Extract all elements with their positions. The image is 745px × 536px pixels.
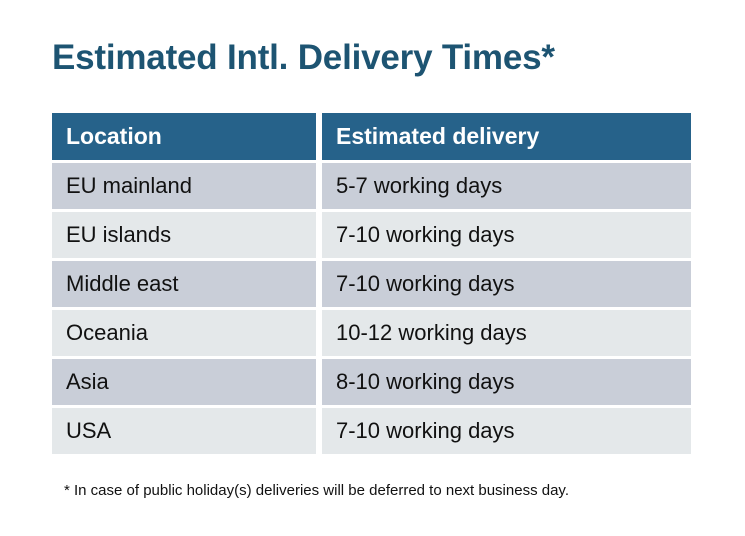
delivery-times-page: Estimated Intl. Delivery Times* Location…: [0, 0, 745, 536]
column-header-location: Location: [52, 113, 316, 160]
cell-estimated-delivery: 7-10 working days: [322, 212, 691, 258]
cell-estimated-delivery: 8-10 working days: [322, 359, 691, 405]
table-row: Asia 8-10 working days: [52, 359, 691, 405]
cell-location: Middle east: [52, 261, 316, 307]
cell-location: Asia: [52, 359, 316, 405]
page-title: Estimated Intl. Delivery Times*: [52, 37, 555, 79]
estimated-delivery-table: Location Estimated delivery EU mainland …: [52, 113, 691, 454]
cell-location: Oceania: [52, 310, 316, 356]
cell-estimated-delivery: 7-10 working days: [322, 261, 691, 307]
cell-location: EU mainland: [52, 163, 316, 209]
table-row: EU mainland 5-7 working days: [52, 163, 691, 209]
column-header-estimated-delivery: Estimated delivery: [322, 113, 691, 160]
table-row: USA 7-10 working days: [52, 408, 691, 454]
cell-estimated-delivery: 10-12 working days: [322, 310, 691, 356]
footnote-public-holiday: * In case of public holiday(s) deliverie…: [64, 481, 569, 501]
table-header-row: Location Estimated delivery: [52, 113, 691, 160]
table-row: Oceania 10-12 working days: [52, 310, 691, 356]
cell-estimated-delivery: 7-10 working days: [322, 408, 691, 454]
table-row: EU islands 7-10 working days: [52, 212, 691, 258]
cell-estimated-delivery: 5-7 working days: [322, 163, 691, 209]
table-row: Middle east 7-10 working days: [52, 261, 691, 307]
cell-location: USA: [52, 408, 316, 454]
cell-location: EU islands: [52, 212, 316, 258]
